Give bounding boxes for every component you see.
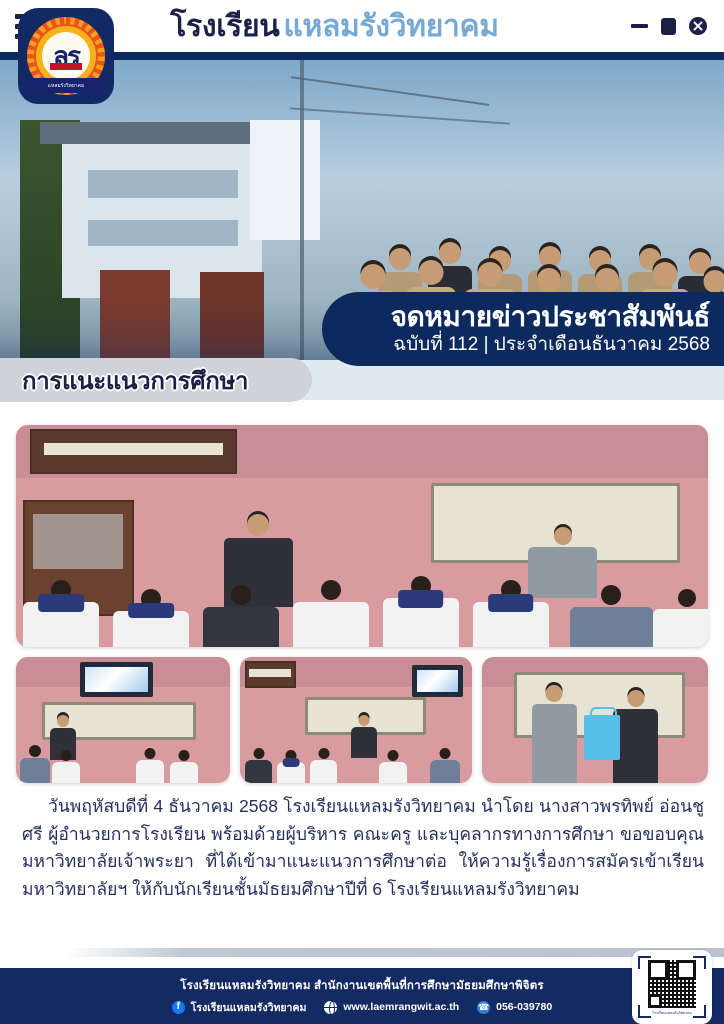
student-body — [379, 762, 407, 783]
student-head — [144, 748, 155, 759]
staff-head — [537, 268, 561, 292]
footer-facebook-label[interactable]: โรงเรียนแหลมรังวิทยาคม — [191, 999, 307, 1016]
main-photo-student-2 — [113, 589, 189, 647]
main-photo-student-5 — [383, 576, 459, 647]
student-head — [321, 580, 341, 600]
thumb1-student-4 — [170, 750, 198, 783]
thumb1-room — [16, 657, 230, 783]
person-head — [546, 685, 563, 702]
teacher-head — [247, 514, 269, 536]
section-title-ribbon: การแนะแนวการศึกษา — [0, 358, 312, 402]
close-icon — [689, 17, 707, 35]
student-hair-bow — [488, 594, 534, 611]
section-band-white — [0, 400, 724, 428]
main-photo-student-6 — [473, 580, 549, 647]
staff-head — [595, 268, 619, 292]
student-head — [318, 748, 329, 759]
student-body — [203, 607, 279, 647]
thumb3-person-left — [532, 685, 577, 783]
qr-code-card[interactable]: โรงเรียนแหลมรังวิทยาคม — [632, 950, 712, 1024]
hero-wire-2 — [290, 107, 510, 124]
thumb2-student-2 — [277, 750, 305, 783]
staff-head — [361, 264, 386, 289]
footer-contact-row: f โรงเรียนแหลมรังวิทยาคม www.laemrangwit… — [172, 999, 552, 1016]
student-body — [170, 762, 198, 783]
thumb1-student-3 — [136, 748, 164, 783]
maximize-button[interactable] — [661, 18, 676, 35]
article-body-text: วันพฤหัสบดีที่ 4 ธันวาคม 2568 โรงเรียนแห… — [22, 793, 704, 904]
main-photo-student-8 — [653, 589, 708, 647]
staff-head — [539, 246, 561, 268]
student-body — [430, 760, 460, 783]
window-title-secondary: แหลมรังวิทยาคม — [283, 3, 498, 50]
emblem-core: ลร — [42, 32, 90, 80]
student-head — [253, 748, 264, 759]
thumb2-student-3 — [310, 748, 338, 783]
facebook-icon[interactable]: f — [172, 1001, 185, 1014]
main-photo-student-4 — [293, 580, 369, 647]
thumbnail-photo-2 — [240, 657, 472, 783]
minimize-button[interactable] — [631, 24, 648, 28]
section-title: การแนะแนวการศึกษา — [22, 361, 248, 400]
main-photo-window — [30, 429, 238, 473]
student-hair-bow — [398, 590, 444, 608]
student-head — [178, 750, 189, 761]
footer-phone[interactable]: 056-039780 — [496, 1001, 552, 1013]
qr-code-icon — [648, 960, 696, 1008]
thumb2-window — [245, 661, 296, 689]
school-logo-badge: ลร แหลมรังวิทยาคม — [18, 8, 114, 104]
thumb1-student-1 — [20, 745, 50, 783]
window-title: โรงเรียน แหลมรังวิทยาคม — [38, 3, 631, 50]
hero-wire-1 — [291, 76, 489, 106]
student-head — [601, 585, 621, 605]
speaker-body — [351, 727, 377, 758]
thumb2-presentation-screen — [412, 665, 463, 698]
close-button[interactable] — [689, 17, 707, 35]
globe-icon[interactable] — [324, 1001, 337, 1014]
student-body — [20, 758, 50, 783]
thumb2-room — [240, 657, 472, 783]
window-controls — [631, 17, 707, 35]
person-head — [627, 690, 644, 707]
main-photo-student-3 — [203, 585, 279, 647]
hero-building-band-2 — [88, 220, 238, 246]
thumb3-gift-bag — [584, 715, 620, 760]
thumb1-presentation-screen — [80, 662, 153, 697]
student-body — [293, 602, 369, 647]
student-head — [388, 750, 399, 761]
staff-head — [478, 262, 503, 287]
newsletter-app-window: โรงเรียน แหลมรังวิทยาคม — [0, 0, 724, 1024]
person-body — [613, 709, 658, 783]
thumbnail-photo-1 — [16, 657, 230, 783]
newsletter-title-pill: จดหมายข่าวประชาสัมพันธ์ ฉบับที่ 112 | ปร… — [322, 292, 724, 366]
student-body — [136, 760, 164, 783]
staff-head — [653, 262, 678, 287]
thumb3-person-right — [613, 690, 658, 783]
thumb2-student-1 — [245, 748, 273, 783]
minimize-icon — [631, 24, 648, 28]
emblem-ribbon: แหลมรังวิทยาคม — [25, 78, 107, 93]
student-body — [245, 760, 273, 783]
main-photo-room — [16, 425, 708, 647]
main-photo-student-7 — [570, 585, 653, 647]
emblem-ribbon-text: แหลมรังวิทยาคม — [48, 82, 85, 90]
hero-building-band-1 — [88, 170, 238, 198]
footer-school-office: โรงเรียนแหลมรังวิทยาคม สำนักงานเขตพื้นที… — [180, 977, 544, 995]
student-hair-bow — [38, 594, 84, 611]
student-head — [61, 750, 72, 761]
student-head — [231, 585, 251, 605]
thumb1-student-2 — [52, 750, 80, 783]
thumbnail-photo-3 — [482, 657, 708, 783]
student-head — [678, 589, 696, 607]
main-photo-student-1 — [23, 580, 99, 647]
footer-decor-band — [66, 948, 724, 957]
qr-eye-bottom-left — [648, 994, 662, 1008]
phone-icon[interactable] — [477, 1001, 490, 1014]
main-photo — [16, 425, 708, 647]
thumb2-student-5 — [430, 748, 460, 783]
speaker-head — [57, 715, 69, 727]
thumb2-student-4 — [379, 750, 407, 783]
presenter-head — [554, 527, 572, 545]
window-title-primary: โรงเรียน — [170, 3, 279, 50]
student-body — [570, 607, 653, 647]
person-body — [532, 704, 577, 783]
student-head — [440, 748, 451, 759]
hero-building-side — [250, 120, 320, 240]
footer-website[interactable]: www.laemrangwit.ac.th — [343, 1001, 459, 1013]
emblem-red-bar — [50, 63, 82, 70]
thumb2-speaker — [351, 715, 377, 758]
student-hair-bow — [283, 758, 300, 767]
student-body — [653, 609, 708, 647]
staff-head — [419, 260, 444, 285]
thumb3-room — [482, 657, 708, 783]
page-footer: โรงเรียนแหลมรังวิทยาคม สำนักงานเขตพื้นที… — [0, 968, 724, 1024]
staff-head — [704, 270, 724, 293]
student-head — [29, 745, 41, 757]
student-body — [52, 762, 80, 783]
newsletter-title: จดหมายข่าวประชาสัมพันธ์ — [352, 302, 710, 332]
student-hair-bow — [128, 603, 174, 618]
speaker-head — [359, 715, 370, 726]
maximize-icon — [661, 18, 676, 35]
newsletter-issue: ฉบับที่ 112 | ประจำเดือนธันวาคม 2568 — [352, 333, 710, 357]
student-body — [310, 760, 338, 783]
school-emblem-icon: ลร แหลมรังวิทยาคม — [27, 17, 105, 95]
